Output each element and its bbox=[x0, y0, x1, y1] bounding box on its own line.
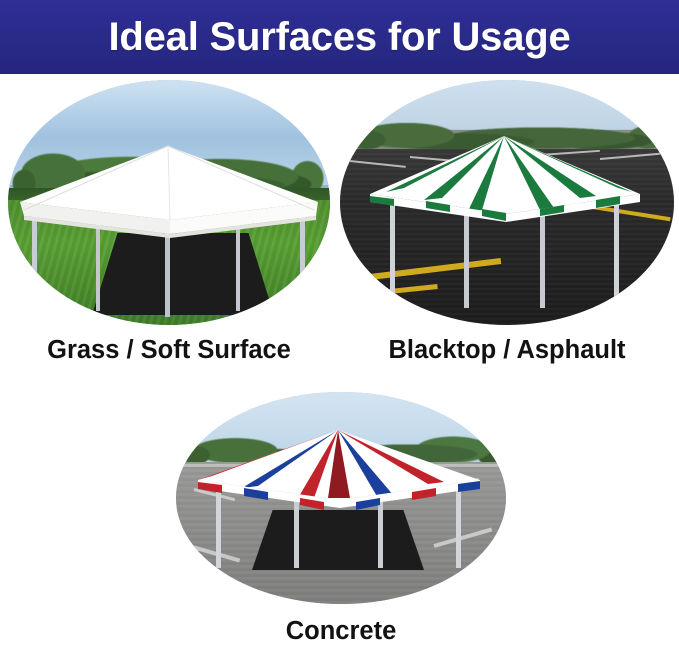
panel-concrete: Concrete bbox=[176, 392, 506, 645]
asphalt-surface bbox=[340, 149, 674, 325]
photo-grass bbox=[8, 80, 330, 325]
panel-grass: Grass / Soft Surface bbox=[8, 80, 330, 364]
page-title: Ideal Surfaces for Usage bbox=[0, 0, 679, 74]
floor-mat bbox=[252, 510, 424, 570]
caption-concrete: Concrete bbox=[176, 618, 506, 645]
curb-line bbox=[176, 464, 506, 467]
caption-grass: Grass / Soft Surface bbox=[8, 337, 330, 364]
photo-concrete bbox=[176, 392, 506, 604]
photo-blacktop bbox=[340, 80, 674, 325]
treeline bbox=[340, 109, 674, 153]
floor-mat bbox=[92, 233, 274, 315]
caption-blacktop: Blacktop / Asphault bbox=[340, 337, 674, 364]
panel-blacktop: Blacktop / Asphault bbox=[340, 80, 674, 364]
infographic-root: Ideal Surfaces for Usage bbox=[0, 0, 679, 667]
parking-line bbox=[470, 152, 540, 154]
